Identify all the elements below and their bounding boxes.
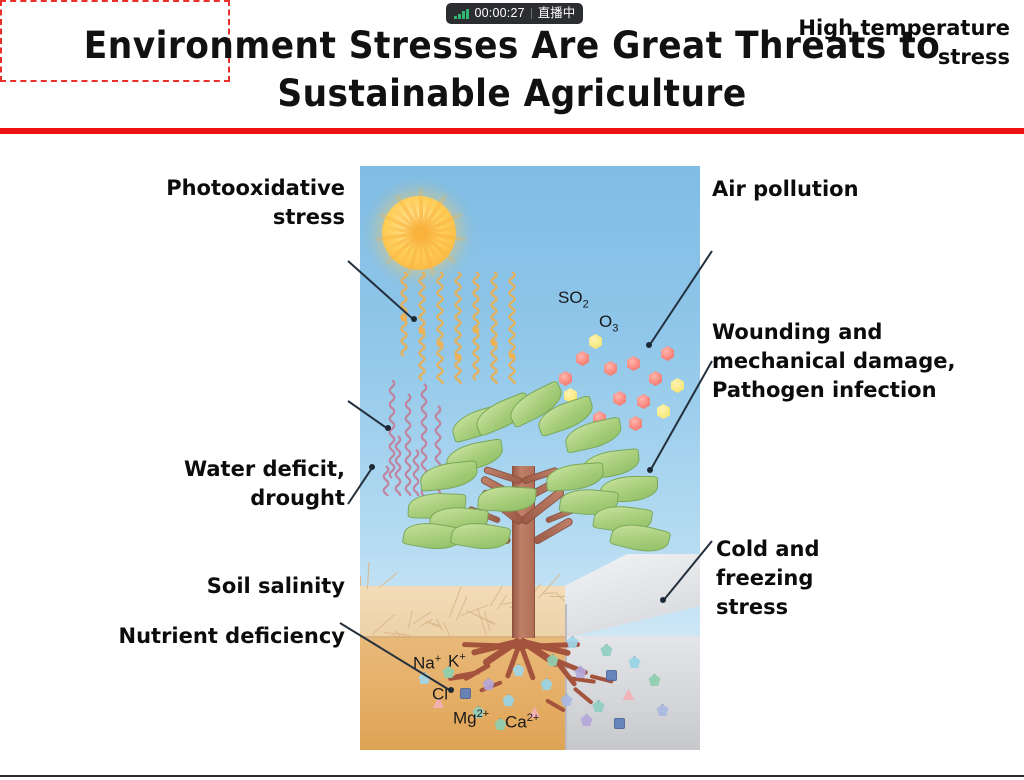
slide-canvas: 00:00:27 直播中 Environment Stresses Are Gr… <box>0 0 1024 780</box>
connector-air-pollution-endpoint <box>646 342 652 348</box>
label-cold-freezing-stress: Cold and freezing stress <box>716 535 1006 622</box>
stream-timer: 00:00:27 <box>475 7 525 20</box>
bottom-border <box>0 775 1024 777</box>
stress-diagram-illustration: SO2 O3 Na+ K+ Cl− Mg2+ Ca2+ <box>360 166 700 750</box>
signal-bars-icon <box>454 9 469 19</box>
live-stream-badge: 00:00:27 直播中 <box>446 3 583 24</box>
connector-photooxidative-endpoint <box>411 316 417 322</box>
connector-wounding-endpoint <box>647 467 653 473</box>
label-photooxidative-stress: Photooxidative stress <box>80 174 345 232</box>
ion-label-ca: Ca2+ <box>505 712 539 733</box>
label-nutrient-deficiency: Nutrient deficiency <box>60 622 345 651</box>
title-line-2: Sustainable Agriculture <box>36 70 988 118</box>
ice-block-face <box>565 636 700 750</box>
label-water-deficit-drought: Water deficit, drought <box>80 455 345 513</box>
soil-crack <box>456 596 468 620</box>
o3-label: O3 <box>599 312 618 334</box>
soil-crack <box>408 610 413 628</box>
live-status-text: 直播中 <box>538 7 576 20</box>
label-air-pollution: Air pollution <box>712 175 1002 204</box>
soil-ion-particle <box>614 718 625 729</box>
title-divider <box>0 128 1024 134</box>
soil-crack <box>543 592 554 594</box>
connector-cold-freezing-endpoint <box>660 597 666 603</box>
badge-divider <box>531 8 532 19</box>
cracked-soil-surface <box>360 586 566 638</box>
ion-label-k: K+ <box>448 651 466 672</box>
soil-crack <box>360 576 361 586</box>
connector-high-temperature-endpoint <box>385 425 391 431</box>
label-high-temperature-stress-box: High temperature stress <box>0 0 230 82</box>
soil-surface-line <box>360 636 566 638</box>
label-wounding-pathogen: Wounding and mechanical damage, Pathogen… <box>712 318 1012 405</box>
so2-label: SO2 <box>558 288 589 310</box>
ion-label-mg: Mg2+ <box>453 708 489 729</box>
connector-water-deficit-endpoint <box>369 464 375 470</box>
soil-ion-particle <box>606 670 617 681</box>
soil-ion-particle <box>460 688 471 699</box>
uv-radiation-squiggles <box>396 272 526 384</box>
label-soil-salinity: Soil salinity <box>80 572 345 601</box>
connector-soil-salinity-endpoint <box>448 687 454 693</box>
